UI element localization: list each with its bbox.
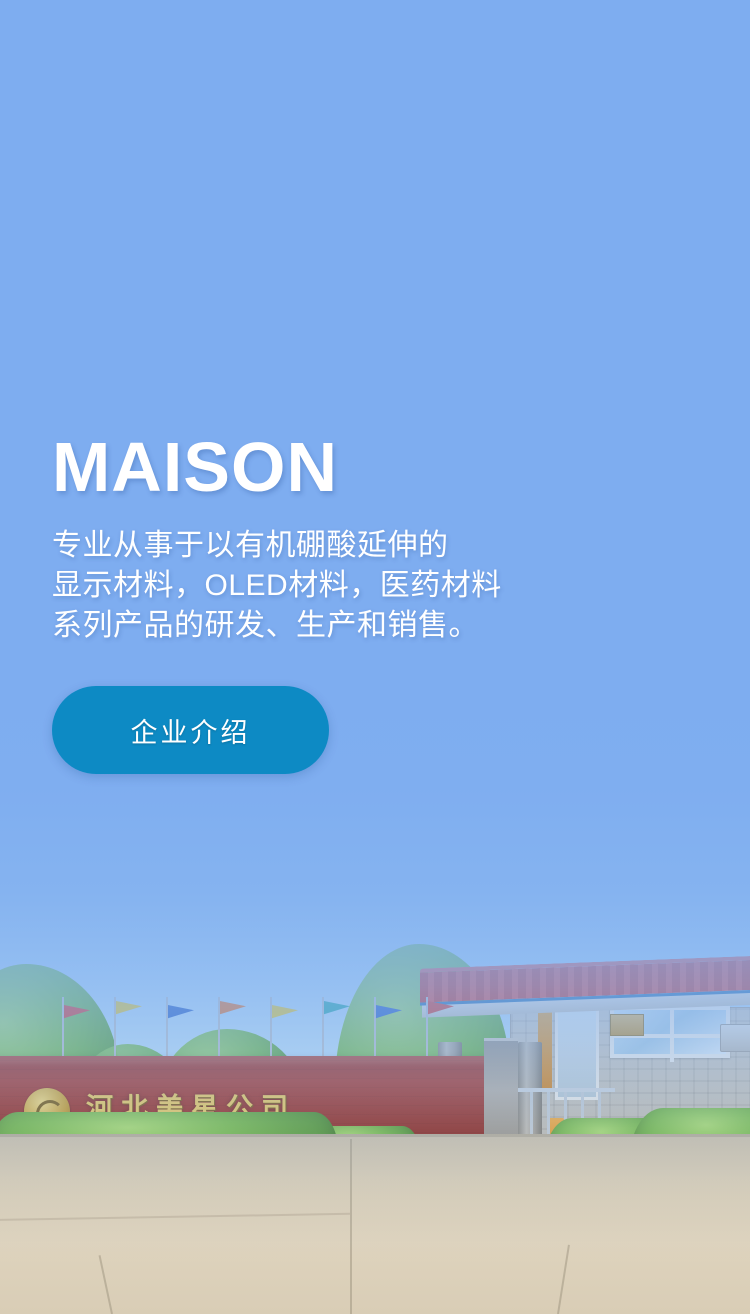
flag: [220, 1001, 246, 1021]
flag-pole: [218, 997, 220, 1059]
flag-pole: [62, 997, 64, 1059]
pavement-seam: [0, 1213, 350, 1221]
air-conditioner-unit: [720, 1024, 750, 1052]
company-intro-button[interactable]: 企业介绍: [52, 686, 329, 774]
hero-tagline: 专业从事于以有机硼酸延伸的 显示材料，OLED材料，医药材料 系列产品的研发、生…: [52, 526, 502, 646]
flag: [428, 1001, 454, 1021]
guard-house-plaque: [610, 1014, 644, 1036]
flag: [272, 1005, 298, 1025]
flag-row: [0, 989, 500, 1059]
factory-gate-photo: 河北美星公司 MAISON CHEMICAL: [0, 714, 750, 1314]
brand-title: MAISON: [52, 430, 502, 504]
flag-pole: [270, 997, 272, 1059]
pavement-seam: [557, 1245, 570, 1314]
flag: [64, 1005, 90, 1025]
flag-pole: [426, 997, 428, 1059]
flag-pole: [322, 997, 324, 1059]
tagline-line-1: 专业从事于以有机硼酸延伸的: [52, 526, 502, 566]
pavement-seam: [99, 1255, 113, 1314]
hero-copy: MAISON 专业从事于以有机硼酸延伸的 显示材料，OLED材料，医药材料 系列…: [52, 430, 502, 774]
hero-banner: 河北美星公司 MAISON CHEMICAL MAISON 专业从事于以有机硼酸…: [0, 0, 750, 1314]
flag: [324, 1001, 350, 1021]
flag: [168, 1005, 194, 1025]
flag-pole: [374, 997, 376, 1059]
flag: [116, 1001, 142, 1021]
tagline-line-2: 显示材料，OLED材料，医药材料: [52, 566, 502, 606]
flag-pole: [166, 997, 168, 1059]
pavement-seam: [350, 1139, 352, 1314]
flag: [376, 1005, 402, 1025]
pavement: [0, 1134, 750, 1314]
guard-house-door: [555, 1008, 599, 1100]
tagline-line-3: 系列产品的研发、生产和销售。: [52, 606, 502, 646]
flag-pole: [114, 997, 116, 1059]
